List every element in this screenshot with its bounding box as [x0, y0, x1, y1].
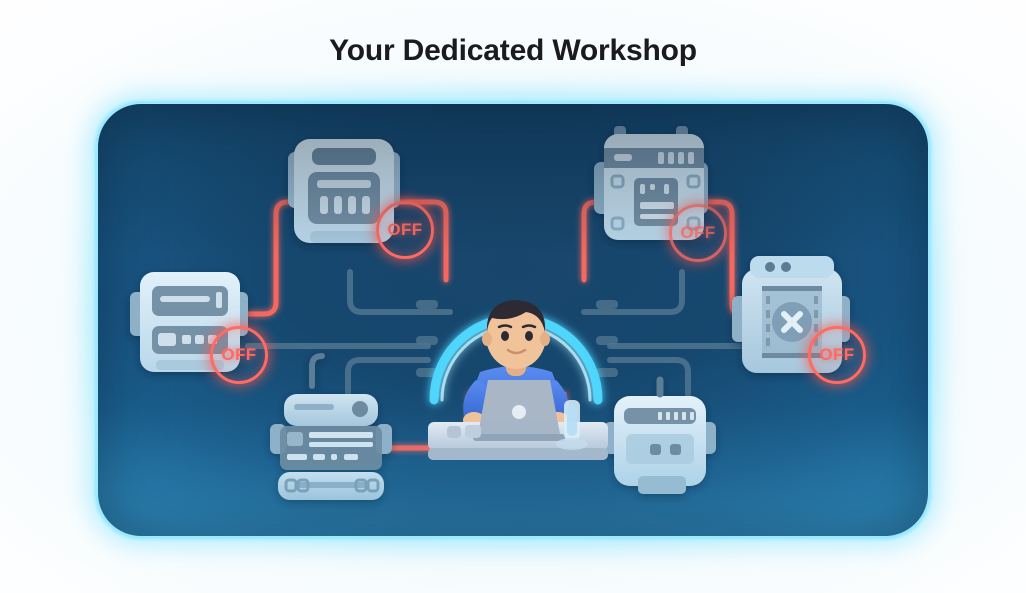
status-badge-off-top-right[interactable]: OFF — [669, 204, 727, 262]
laptop — [473, 380, 565, 441]
diagram-stage: OFF OFF OFF OFF — [98, 104, 928, 536]
status-badge-off-top-left[interactable]: OFF — [376, 201, 434, 259]
diagram-svg — [98, 104, 931, 539]
machine-bottom-left[interactable] — [270, 356, 392, 500]
machine-bottom-right[interactable] — [604, 380, 716, 494]
status-badge-off-left[interactable]: OFF — [210, 326, 268, 384]
status-badge-off-right[interactable]: OFF — [808, 326, 866, 384]
workshop-diagram-panel: OFF OFF OFF OFF — [95, 101, 931, 539]
operator-at-desk[interactable] — [428, 300, 608, 460]
page-title: Your Dedicated Workshop — [0, 34, 1026, 68]
